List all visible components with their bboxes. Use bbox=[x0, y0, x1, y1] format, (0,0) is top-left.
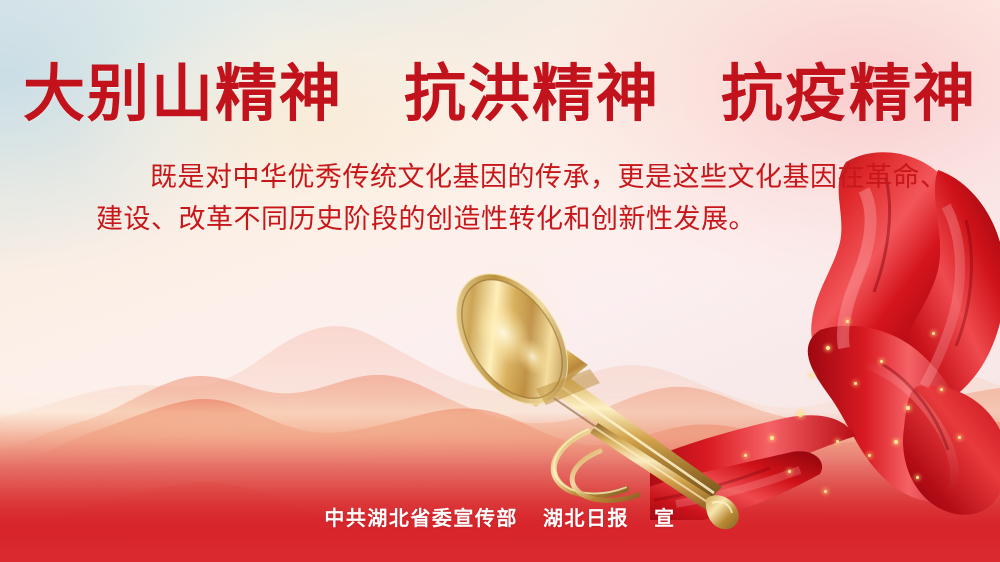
body-line-2: 建设、改革不同历史阶段的创造性转化和创新性发展。 bbox=[96, 198, 908, 240]
title-part-1: 大别山精神 bbox=[23, 61, 343, 129]
body-paragraph: 既是对中华优秀传统文化基因的传承，更是这些文化基因在革命、 建设、改革不同历史阶… bbox=[96, 156, 908, 240]
footer-credit: 中共湖北省委宣传部 湖北日报 宣 bbox=[0, 502, 1000, 531]
footer-org-2: 湖北日报 bbox=[543, 508, 629, 530]
golden-bugle bbox=[440, 265, 770, 535]
footer-suffix: 宣 bbox=[654, 508, 676, 530]
title-part-2: 抗洪精神 bbox=[404, 61, 660, 129]
poster-canvas: 大别山精神 抗洪精神 抗疫精神 既是对中华优秀传统文化基因的传承，更是这些文化基… bbox=[0, 0, 1000, 562]
footer-org-1: 中共湖北省委宣传部 bbox=[324, 508, 518, 530]
title-part-3: 抗疫精神 bbox=[721, 61, 977, 129]
body-line-1: 既是对中华优秀传统文化基因的传承，更是这些文化基因在革命、 bbox=[96, 156, 908, 198]
page-title: 大别山精神 抗洪精神 抗疫精神 bbox=[0, 64, 1000, 126]
